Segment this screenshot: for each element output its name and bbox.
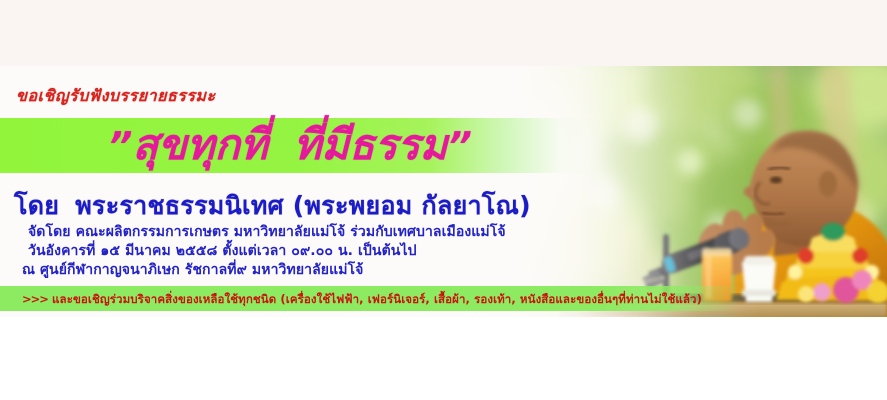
headline-part-2: ที่มีธรรม (294, 120, 448, 169)
banner-bottom-spacer (0, 317, 887, 400)
invite-line: ขอเชิญรับฟังบรรยายธรรมะ (16, 84, 216, 109)
headline-part-1: สุขทุกที่ (133, 120, 268, 169)
headline-open-quote: ” (108, 124, 132, 168)
detail-venue: ณ ศูนย์กีฬากาญจนาภิเษก รัชกาลที่๙ มหาวิท… (22, 259, 363, 281)
donation-text: และขอเชิญร่วมบริจาคสิ่งของเหลือใช้ทุกชนิ… (52, 292, 702, 306)
byline-speaker-name: พระราชธรรมนิเทศ (พระพยอม กัลยาโณ) (75, 191, 531, 220)
byline: โดยพระราชธรรมนิเทศ (พระพยอม กัลยาโณ) (14, 186, 531, 226)
byline-prefix: โดย (14, 191, 59, 220)
donation-notice: >>> และขอเชิญร่วมบริจาคสิ่งของเหลือใช้ทุ… (22, 291, 702, 309)
headline-close-quote: ” (447, 124, 471, 168)
event-banner: ขอเชิญรับฟังบรรยายธรรมะ ”สุขทุกที่ที่มีธ… (0, 0, 887, 400)
banner-top-panel (0, 0, 887, 68)
headline: ”สุขทุกที่ที่มีธรรม” (0, 116, 580, 175)
donation-arrows: >>> (22, 292, 48, 306)
